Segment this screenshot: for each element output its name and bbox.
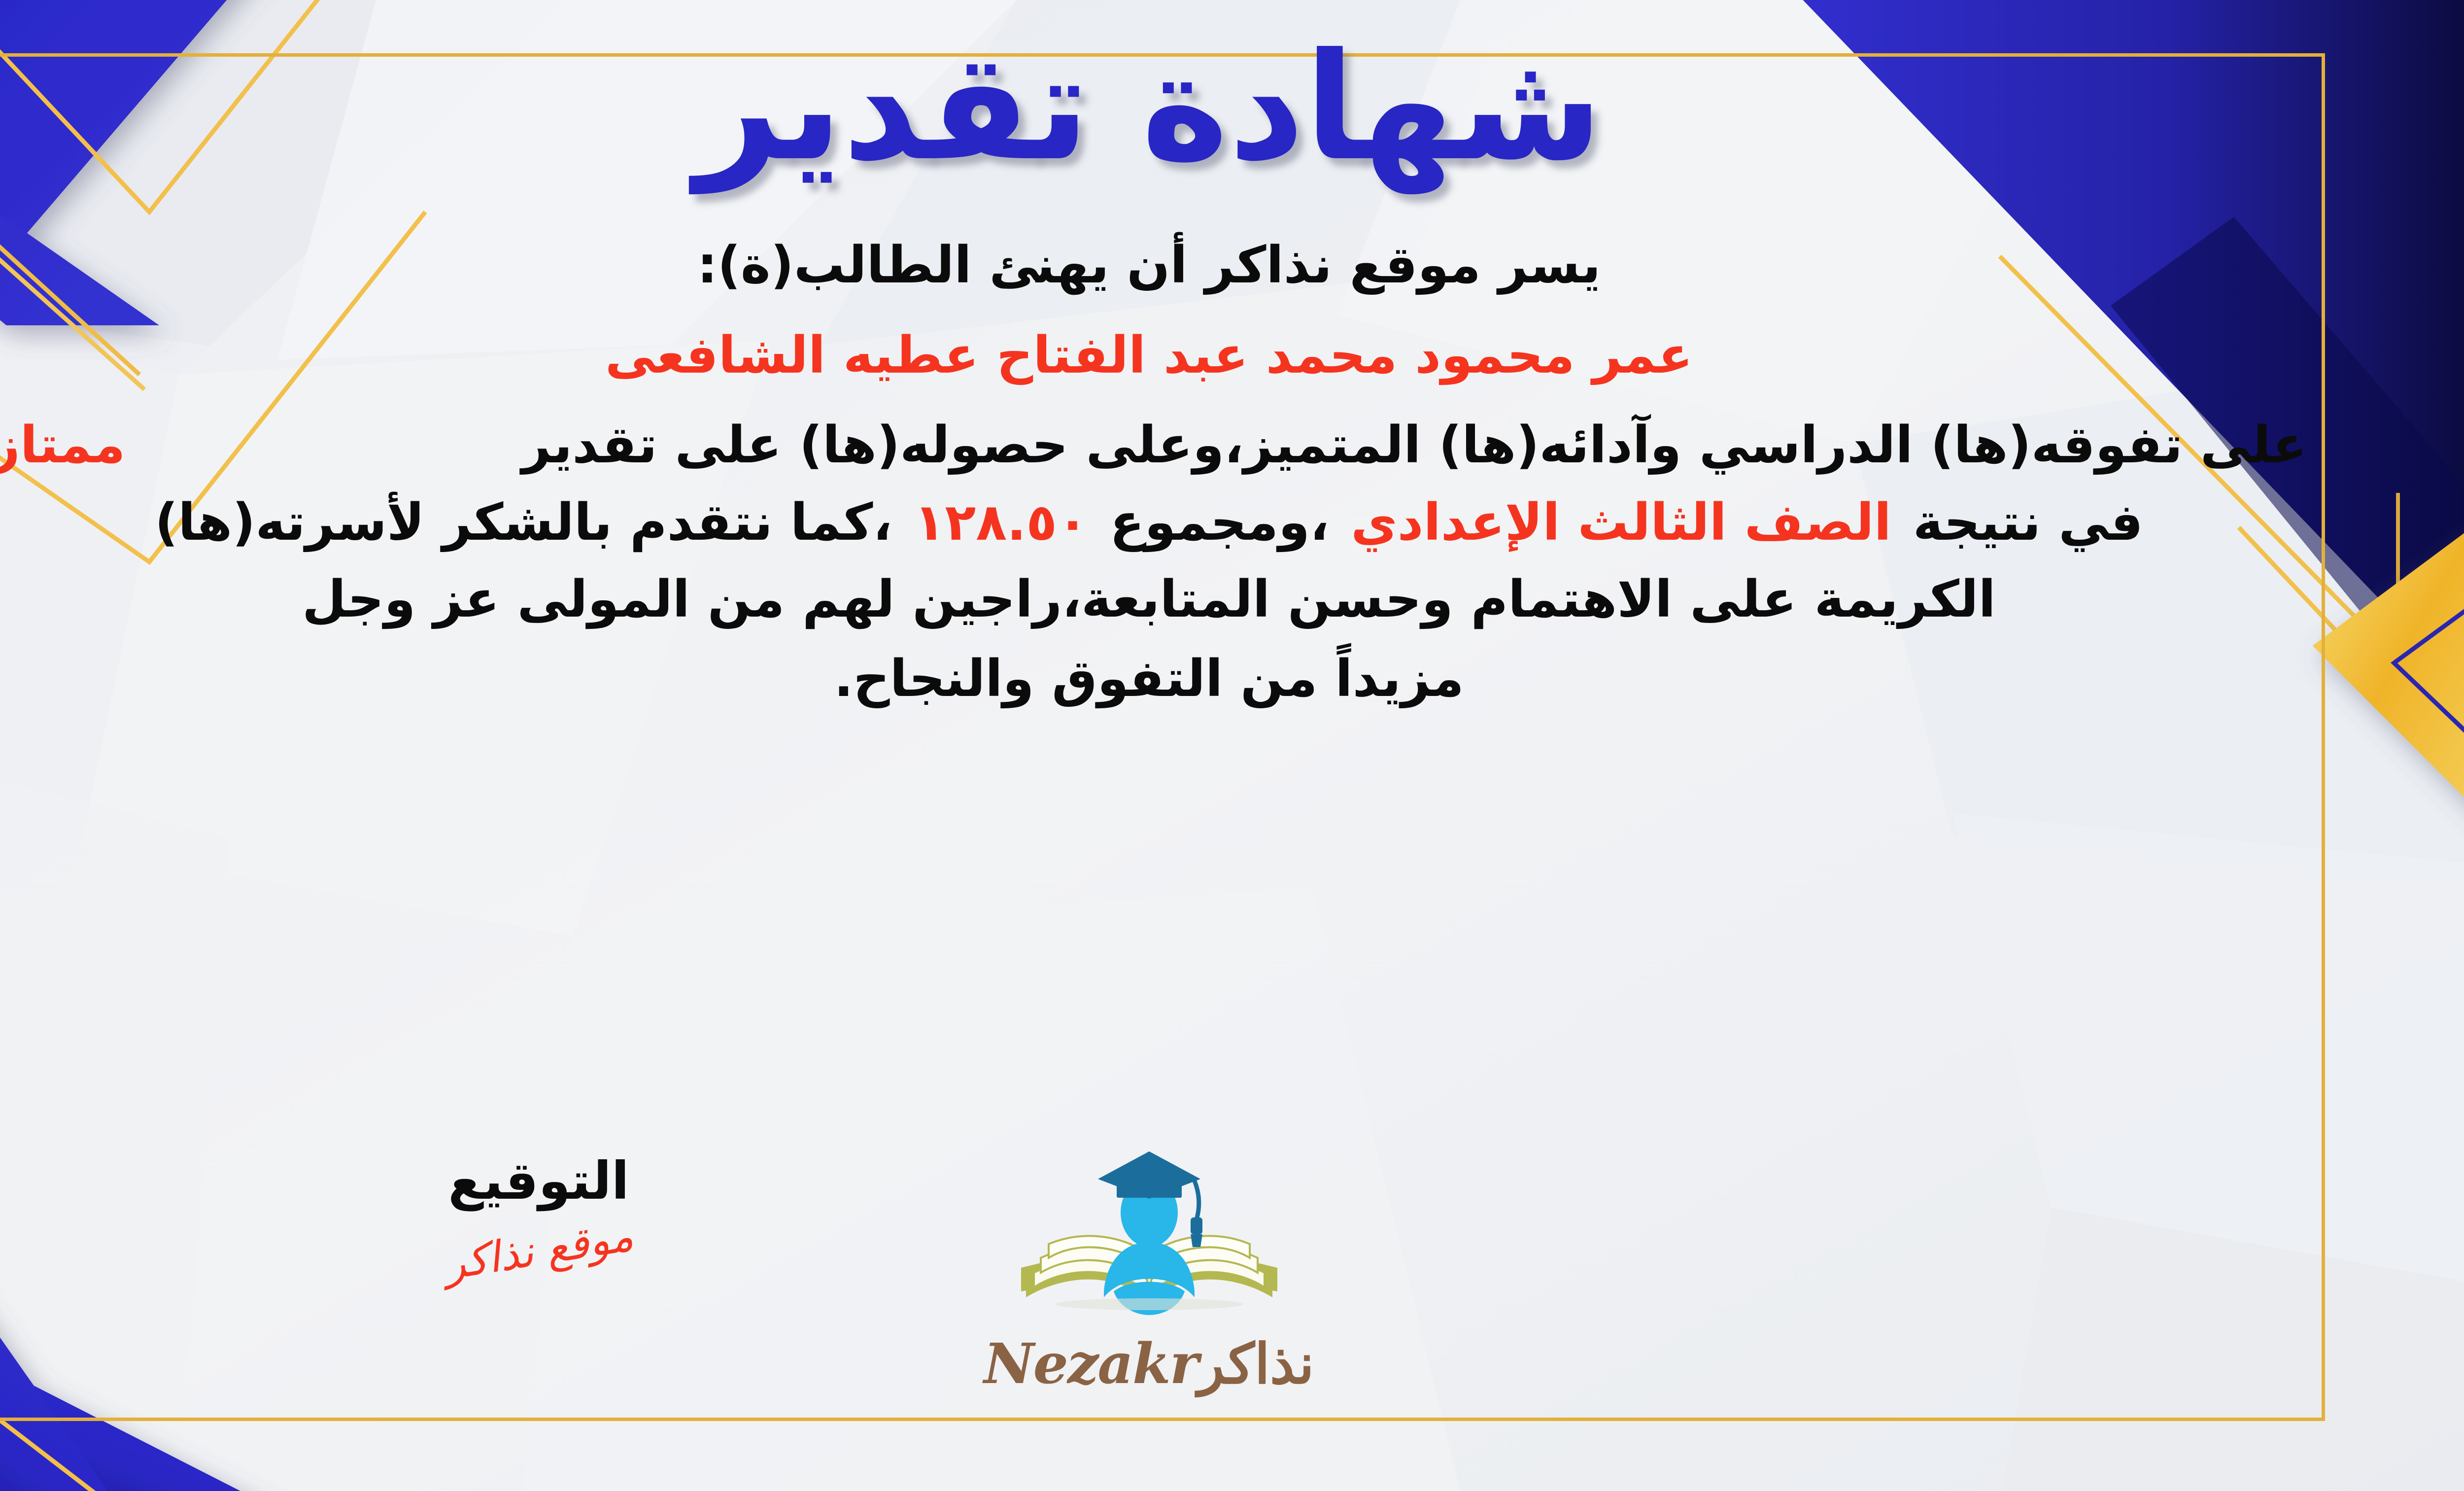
logo-latin: Nezakr xyxy=(984,1332,1198,1396)
congratulations-line: يسر موقع نذاكر أن يهنئ الطالب(ة): xyxy=(0,227,2307,304)
certificate-body: يسر موقع نذاكر أن يهنئ الطالب(ة): عمر مح… xyxy=(0,227,2307,717)
wish-line: الكريمة على الاهتمام وحسن المتابعة،راجين… xyxy=(0,561,2307,638)
achievement-line: على تفوقه(ها) الدراسي وآدائه(ها) المتميز… xyxy=(0,407,2307,484)
logo-arabic: نذاكر xyxy=(1198,1332,1314,1396)
site-logo: نذاكرNezakr xyxy=(937,1144,1361,1396)
total-value: ١٢٨.٥٠ xyxy=(914,484,1088,561)
grade-value: ممتاز xyxy=(0,407,125,484)
achievement-text: على تفوقه(ها) الدراسي وآدائه(ها) المتميز… xyxy=(522,407,2307,484)
class-name: الصف الثالث الإعدادي xyxy=(1351,484,1891,561)
thanks-text: ،كما نتقدم بالشكر لأسرته(ها) xyxy=(155,484,892,561)
logo-wordmark: نذاكرNezakr xyxy=(937,1332,1361,1396)
signature-mark: موقع نذاكر xyxy=(441,1211,637,1289)
student-name: عمر محمود محمد عبد الفتاح عطيه الشافعى xyxy=(0,317,2307,394)
total-label: ،ومجموع xyxy=(1110,484,1329,561)
final-line: مزيداً من التفوق والنجاح. xyxy=(0,640,2307,718)
certificate-title: شهادة تقدير xyxy=(695,30,1603,192)
result-prefix: في نتيجة xyxy=(1913,484,2143,561)
signature-label: التوقيع xyxy=(366,1151,711,1211)
graduate-book-logo-icon xyxy=(992,1144,1307,1341)
result-line: في نتيجة الصف الثالث الإعدادي ،ومجموع ١٢… xyxy=(0,484,2307,561)
certificate-footer: التوقيع موقع نذاكر xyxy=(0,1151,2464,1417)
signature-block: التوقيع موقع نذاكر xyxy=(366,1151,711,1275)
